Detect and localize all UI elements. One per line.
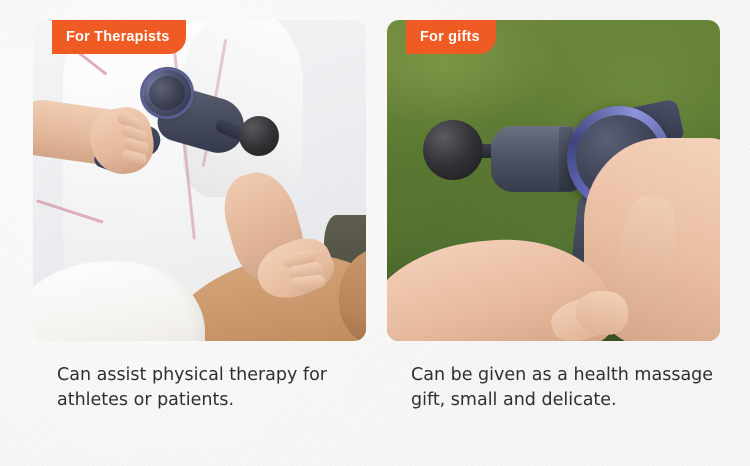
caption-for-gifts: Can be given as a health massage gift, s…: [387, 363, 720, 413]
therapist-scene: [33, 20, 366, 341]
badge-for-gifts: For gifts: [406, 20, 496, 54]
receiver-hand-fingertip: [576, 291, 628, 335]
feature-panels: For Therapists Can assist physical thera…: [33, 20, 720, 413]
panel-for-gifts: For gifts Can be given as a health massa…: [387, 20, 720, 413]
panel-for-therapists: For Therapists Can assist physical thera…: [33, 20, 366, 413]
therapist-photo: For Therapists: [33, 20, 366, 341]
client-shoulder: [339, 247, 366, 341]
caption-for-therapists: Can assist physical therapy for athletes…: [33, 363, 366, 413]
massage-gun-ball-attachment-left: [239, 116, 279, 156]
gift-scene: [387, 20, 720, 341]
massage-gun-display-left: [145, 71, 190, 114]
gift-photo: For gifts: [387, 20, 720, 341]
massage-gun-ball-attachment-right: [423, 120, 483, 180]
badge-for-therapists: For Therapists: [52, 20, 186, 54]
